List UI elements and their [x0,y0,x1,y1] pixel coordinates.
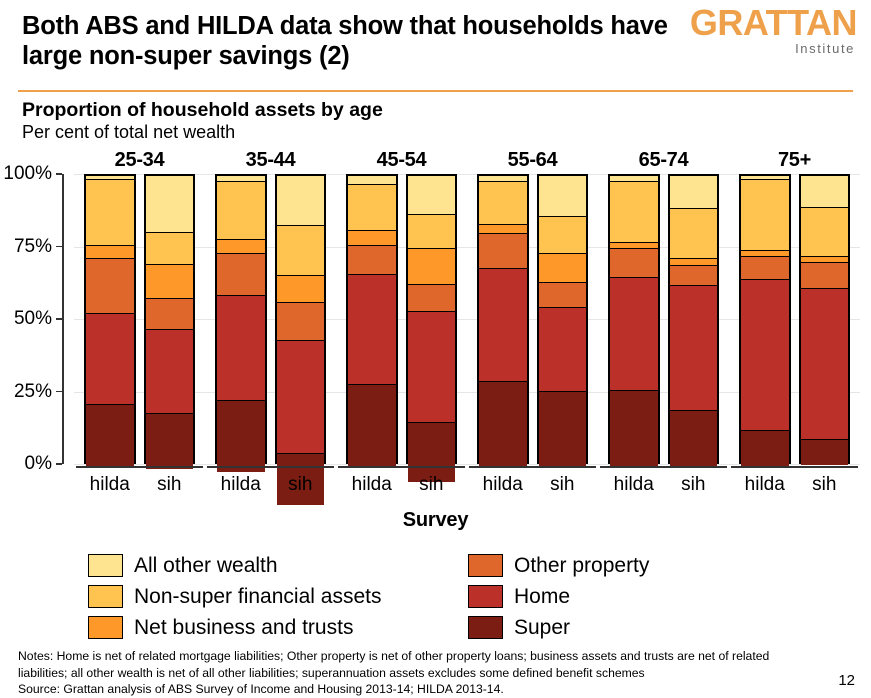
segment-other-property[interactable] [348,246,396,275]
segment-all-other-wealth[interactable] [408,176,456,215]
segment-super[interactable] [670,411,718,466]
bar-55-64-hilda[interactable] [477,174,529,464]
x-tick-35-44-sih: sih [267,474,335,496]
legend-label: Home [514,586,570,607]
group-label-45-54: 45-54 [336,149,467,172]
y-axis-tick-mark [56,463,62,465]
segment-non-super-financial-assets[interactable] [348,185,396,231]
x-tick-35-44-hilda: hilda [207,474,275,496]
segment-net-business-and-trusts[interactable] [479,225,527,234]
chart-title: Proportion of household assets by age [22,99,849,121]
y-axis-tick-label: 100% [0,163,52,185]
chart-plot-area: 25-3435-4445-5455-6465-7475+ 0%25%50%75%… [0,149,871,509]
segment-non-super-financial-assets[interactable] [479,182,527,226]
grattan-logo: GRATTAN Institute [690,6,857,56]
legend-swatch-icon [468,616,503,639]
segment-non-super-financial-assets[interactable] [277,226,325,276]
group-axis-underline [207,466,334,468]
slide-header: Both ABS and HILDA data show that househ… [0,0,871,86]
segment-non-super-financial-assets[interactable] [217,182,265,240]
y-axis-tick-mark [56,173,62,175]
y-axis-tick-mark [56,318,62,320]
group-axis-underline [731,466,858,468]
bar-25-34-sih[interactable] [144,174,196,464]
legend-label: Super [514,617,570,638]
group-axis-underline [338,466,465,468]
legend-label: Other property [514,555,649,576]
segment-other-property[interactable] [741,257,789,280]
segment-net-business-and-trusts[interactable] [86,246,134,259]
legend-swatch-icon [468,554,503,577]
bar-65-74-hilda[interactable] [608,174,660,464]
segment-other-property[interactable] [217,254,265,296]
legend-swatch-icon [88,554,123,577]
segment-net-business-and-trusts[interactable] [670,259,718,266]
segment-super[interactable] [217,401,265,472]
y-axis-tick-mark [56,391,62,393]
segment-home[interactable] [348,275,396,385]
segment-other-property[interactable] [610,249,658,278]
segment-other-property[interactable] [801,263,849,289]
segment-other-property[interactable] [86,259,134,314]
segment-home[interactable] [741,280,789,431]
segment-home[interactable] [670,286,718,411]
segment-non-super-financial-assets[interactable] [539,217,587,255]
group-label-25-34: 25-34 [74,149,205,172]
segment-other-property[interactable] [277,303,325,341]
segment-all-other-wealth[interactable] [801,176,849,208]
segment-home[interactable] [801,289,849,440]
x-tick-45-54-hilda: hilda [338,474,406,496]
bar-35-44-sih[interactable] [275,174,327,464]
segment-net-business-and-trusts[interactable] [146,265,194,299]
bar-35-44-hilda[interactable] [215,174,267,464]
legend-swatch-icon [88,585,123,608]
group-axis-underline [600,466,727,468]
segment-home[interactable] [408,312,456,422]
bar-75+-hilda[interactable] [739,174,791,464]
legend-column-left: All other wealthNon-super financial asse… [88,550,381,643]
x-tick-45-54-sih: sih [398,474,466,496]
segment-non-super-financial-assets[interactable] [670,209,718,258]
group-label-55-64: 55-64 [467,149,598,172]
x-tick-75+-sih: sih [791,474,859,496]
segment-other-property[interactable] [479,234,527,269]
source-line: Source: Grattan analysis of ABS Survey o… [18,681,808,698]
legend-item-non-super-financial-assets[interactable]: Non-super financial assets [88,581,381,612]
bar-45-54-hilda[interactable] [346,174,398,464]
segment-super[interactable] [801,440,849,465]
segment-non-super-financial-assets[interactable] [610,182,658,243]
bar-75+-sih[interactable] [799,174,851,464]
notes-line-1: Notes: Home is net of related mortgage l… [18,648,808,665]
x-tick-65-74-hilda: hilda [600,474,668,496]
segment-net-business-and-trusts[interactable] [348,231,396,246]
segment-home[interactable] [539,308,587,392]
segment-super[interactable] [146,414,194,469]
chart-axes: 0%25%50%75%100% hildasihhildasihhildasih… [0,174,871,474]
segment-home[interactable] [610,278,658,391]
segment-other-property[interactable] [408,285,456,313]
legend-label: All other wealth [134,555,278,576]
legend-item-other-property[interactable]: Other property [468,550,649,581]
segment-home[interactable] [86,314,134,405]
segment-super[interactable] [539,392,587,466]
y-axis-tick-mark [56,246,62,248]
notes-line-2: liabilities; all other wealth is net of … [18,665,808,682]
legend-item-net-business-and-trusts[interactable]: Net business and trusts [88,612,381,643]
segment-non-super-financial-assets[interactable] [86,180,134,245]
bar-45-54-sih[interactable] [406,174,458,464]
x-tick-55-64-sih: sih [529,474,597,496]
segment-net-business-and-trusts[interactable] [277,276,325,304]
legend-column-right: Other propertyHomeSuper [468,550,649,643]
y-axis-tick-label: 0% [0,453,52,475]
y-axis-tick-label: 25% [0,381,52,403]
legend-label: Net business and trusts [134,617,353,638]
footer-notes: Notes: Home is net of related mortgage l… [18,648,808,698]
chart-heading-block: Proportion of household assets by age Pe… [0,92,871,144]
legend-item-super[interactable]: Super [468,612,649,643]
segment-super[interactable] [86,405,134,466]
segment-all-other-wealth[interactable] [146,176,194,233]
legend-swatch-icon [88,616,123,639]
segment-other-property[interactable] [539,283,587,308]
y-axis-tick-label: 50% [0,308,52,330]
segment-other-property[interactable] [146,299,194,330]
page-title: Both ABS and HILDA data show that househ… [22,12,712,71]
segment-home[interactable] [277,341,325,454]
x-tick-25-34-hilda: hilda [76,474,144,496]
brand-wordmark: GRATTAN [690,6,857,40]
bar-65-74-sih[interactable] [668,174,720,464]
segment-other-property[interactable] [670,266,718,286]
legend-item-home[interactable]: Home [468,581,649,612]
page-number: 12 [838,672,855,689]
segment-all-other-wealth[interactable] [277,176,325,226]
chart-units-label: Per cent of total net wealth [22,122,849,144]
legend-label: Non-super financial assets [134,586,381,607]
group-axis-underline [469,466,596,468]
segment-all-other-wealth[interactable] [670,176,718,209]
x-tick-75+-hilda: hilda [731,474,799,496]
legend-item-all-other-wealth[interactable]: All other wealth [88,550,381,581]
segment-super[interactable] [741,431,789,466]
group-label-35-44: 35-44 [205,149,336,172]
y-axis-tick-label: 75% [0,236,52,258]
group-label-65-74: 65-74 [598,149,729,172]
segment-super[interactable] [610,391,658,468]
segment-home[interactable] [217,296,265,400]
segment-all-other-wealth[interactable] [348,176,396,185]
segment-non-super-financial-assets[interactable] [146,233,194,265]
x-axis-title: Survey [0,509,871,532]
segment-non-super-financial-assets[interactable] [801,208,849,257]
x-tick-25-34-sih: sih [136,474,204,496]
y-axis-line [62,174,64,464]
group-label-75+: 75+ [729,149,860,172]
segment-home[interactable] [479,269,527,382]
x-tick-55-64-hilda: hilda [469,474,537,496]
segment-super[interactable] [348,385,396,466]
group-axis-underline [76,466,203,468]
bar-25-34-hilda[interactable] [84,174,136,464]
segment-all-other-wealth[interactable] [539,176,587,217]
bar-55-64-sih[interactable] [537,174,589,464]
legend-swatch-icon [468,585,503,608]
segment-non-super-financial-assets[interactable] [741,180,789,251]
segment-net-business-and-trusts[interactable] [539,254,587,283]
segment-super[interactable] [479,382,527,468]
segment-net-business-and-trusts[interactable] [408,249,456,285]
segment-home[interactable] [146,330,194,414]
segment-non-super-financial-assets[interactable] [408,215,456,248]
chart-legend: All other wealthNon-super financial asse… [0,546,871,638]
brand-subtitle: Institute [690,41,855,56]
segment-net-business-and-trusts[interactable] [217,240,265,255]
x-tick-65-74-sih: sih [660,474,728,496]
